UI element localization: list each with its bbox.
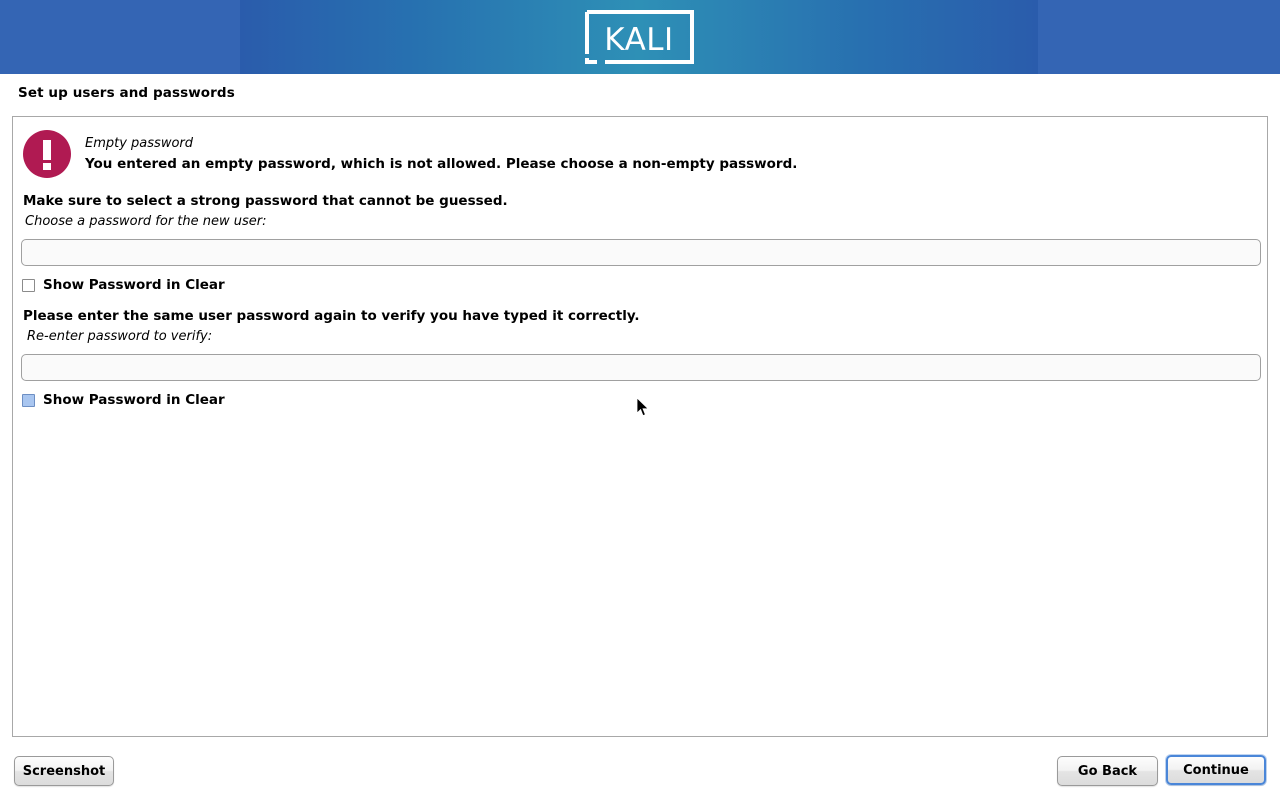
installer-header-banner: KALI (0, 0, 1280, 74)
password-input[interactable] (21, 239, 1261, 266)
password-field-label: Choose a password for the new user: (25, 214, 267, 229)
show-password-in-clear-row-2[interactable]: Show Password in Clear (22, 392, 225, 408)
page-title: Set up users and passwords (18, 85, 235, 101)
verify-password-hint: Please enter the same user password agai… (23, 308, 640, 324)
show-password-checkbox-2[interactable] (22, 394, 35, 407)
main-content-panel: Empty password You entered an empty pass… (12, 116, 1268, 737)
verify-field-label: Re-enter password to verify: (27, 329, 212, 344)
show-password-checkbox-1[interactable] (22, 279, 35, 292)
kali-logo-text: KALI (604, 22, 673, 58)
show-password-label-1: Show Password in Clear (43, 277, 225, 293)
show-password-label-2: Show Password in Clear (43, 392, 225, 408)
exclamation-circle-icon (23, 130, 71, 178)
error-message: You entered an empty password, which is … (85, 156, 797, 172)
go-back-button[interactable]: Go Back (1057, 756, 1158, 786)
continue-button[interactable]: Continue (1166, 755, 1266, 785)
verify-password-input[interactable] (21, 354, 1261, 381)
show-password-in-clear-row-1[interactable]: Show Password in Clear (22, 277, 225, 293)
screenshot-button[interactable]: Screenshot (14, 756, 114, 786)
error-title: Empty password (85, 136, 193, 151)
kali-logo: KALI (583, 8, 696, 66)
password-strength-hint: Make sure to select a strong password th… (23, 193, 508, 209)
